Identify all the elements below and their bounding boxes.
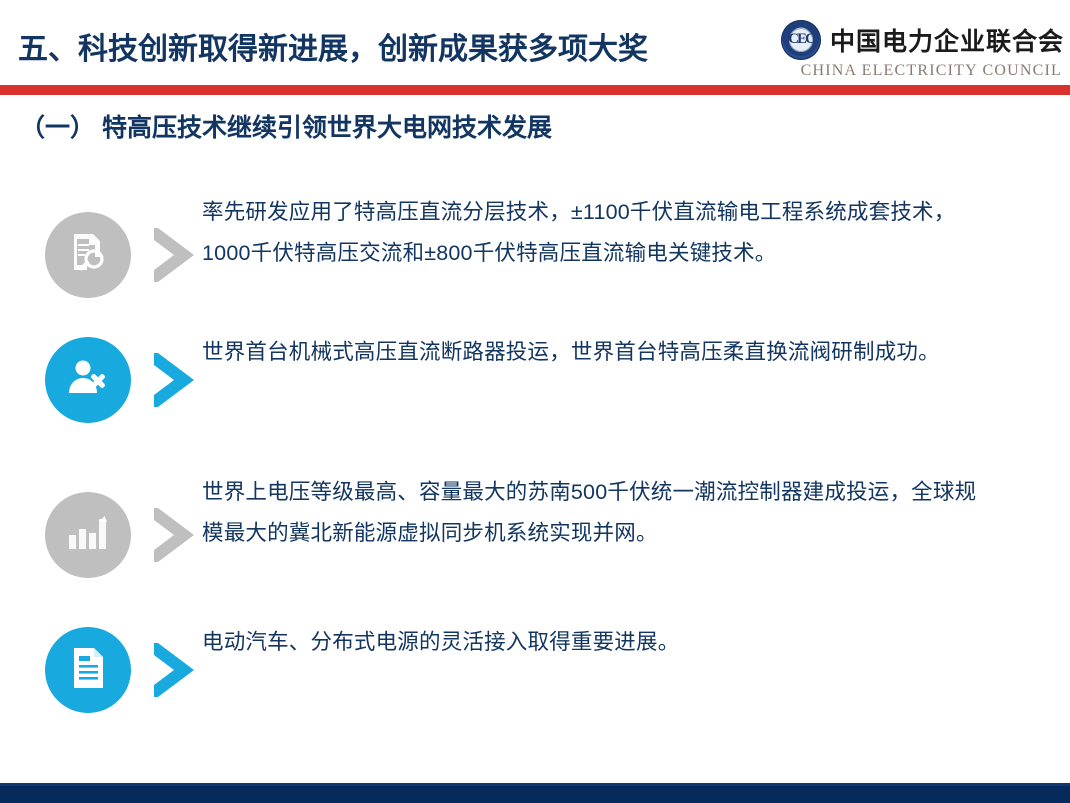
- brand-logo: CEC 中国电力企业联合会 CHINA ELECTRICITY COUNCIL: [781, 20, 1064, 80]
- bullet-icon-circle: [45, 492, 131, 578]
- bullet-row: 世界上电压等级最高、容量最大的苏南500千伏统一潮流控制器建成投运，全球规模最大…: [0, 472, 1070, 597]
- slide-header: 五、科技创新取得新进展，创新成果获多项大奖 CEC 中国电力企业联合会 CHIN…: [0, 0, 1070, 85]
- page-title: 五、科技创新取得新进展，创新成果获多项大奖: [18, 24, 648, 68]
- cec-emblem-icon: CEC: [781, 20, 821, 60]
- bullet-icon-circle: [45, 212, 131, 298]
- chevron-right-icon: [150, 224, 198, 286]
- chevron-right-icon: [150, 504, 198, 566]
- document-search-icon: [65, 229, 111, 280]
- bullet-text: 世界上电压等级最高、容量最大的苏南500千伏统一潮流控制器建成投运，全球规模最大…: [160, 472, 1070, 554]
- header-red-divider: [0, 85, 1070, 95]
- bullet-text: 世界首台机械式高压直流断路器投运，世界首台特高压柔直换流阀研制成功。: [160, 332, 1070, 373]
- emblem-monogram: CEC: [788, 31, 814, 48]
- bullet-visual: [0, 622, 160, 718]
- bullet-visual: [0, 332, 160, 428]
- bullet-row: 电动汽车、分布式电源的灵活接入取得重要进展。: [0, 622, 1070, 718]
- chevron-right-icon: [150, 639, 198, 701]
- bullet-text: 电动汽车、分布式电源的灵活接入取得重要进展。: [160, 622, 1070, 663]
- bullet-row: 率先研发应用了特高压直流分层技术，±1100千伏直流输电工程系统成套技术，100…: [0, 192, 1070, 317]
- user-add-icon: [65, 355, 111, 406]
- brand-name-chinese: 中国电力企业联合会: [830, 22, 1064, 58]
- bullet-icon-circle: [45, 627, 131, 713]
- section-subtitle: （一） 特高压技术继续引领世界大电网技术发展: [20, 108, 552, 144]
- bullet-visual: [0, 472, 160, 597]
- bullet-visual: [0, 192, 160, 317]
- bullet-icon-circle: [45, 337, 131, 423]
- bullet-text: 率先研发应用了特高压直流分层技术，±1100千伏直流输电工程系统成套技术，100…: [160, 192, 1070, 274]
- brand-name-english: CHINA ELECTRICITY COUNCIL: [801, 62, 1062, 80]
- footer-bar: [0, 786, 1070, 803]
- file-lines-icon: [67, 645, 109, 696]
- brand-row: CEC 中国电力企业联合会: [781, 20, 1064, 60]
- chevron-right-icon: [150, 349, 198, 411]
- bullet-row: 世界首台机械式高压直流断路器投运，世界首台特高压柔直换流阀研制成功。: [0, 332, 1070, 428]
- bar-chart-icon: [67, 513, 109, 556]
